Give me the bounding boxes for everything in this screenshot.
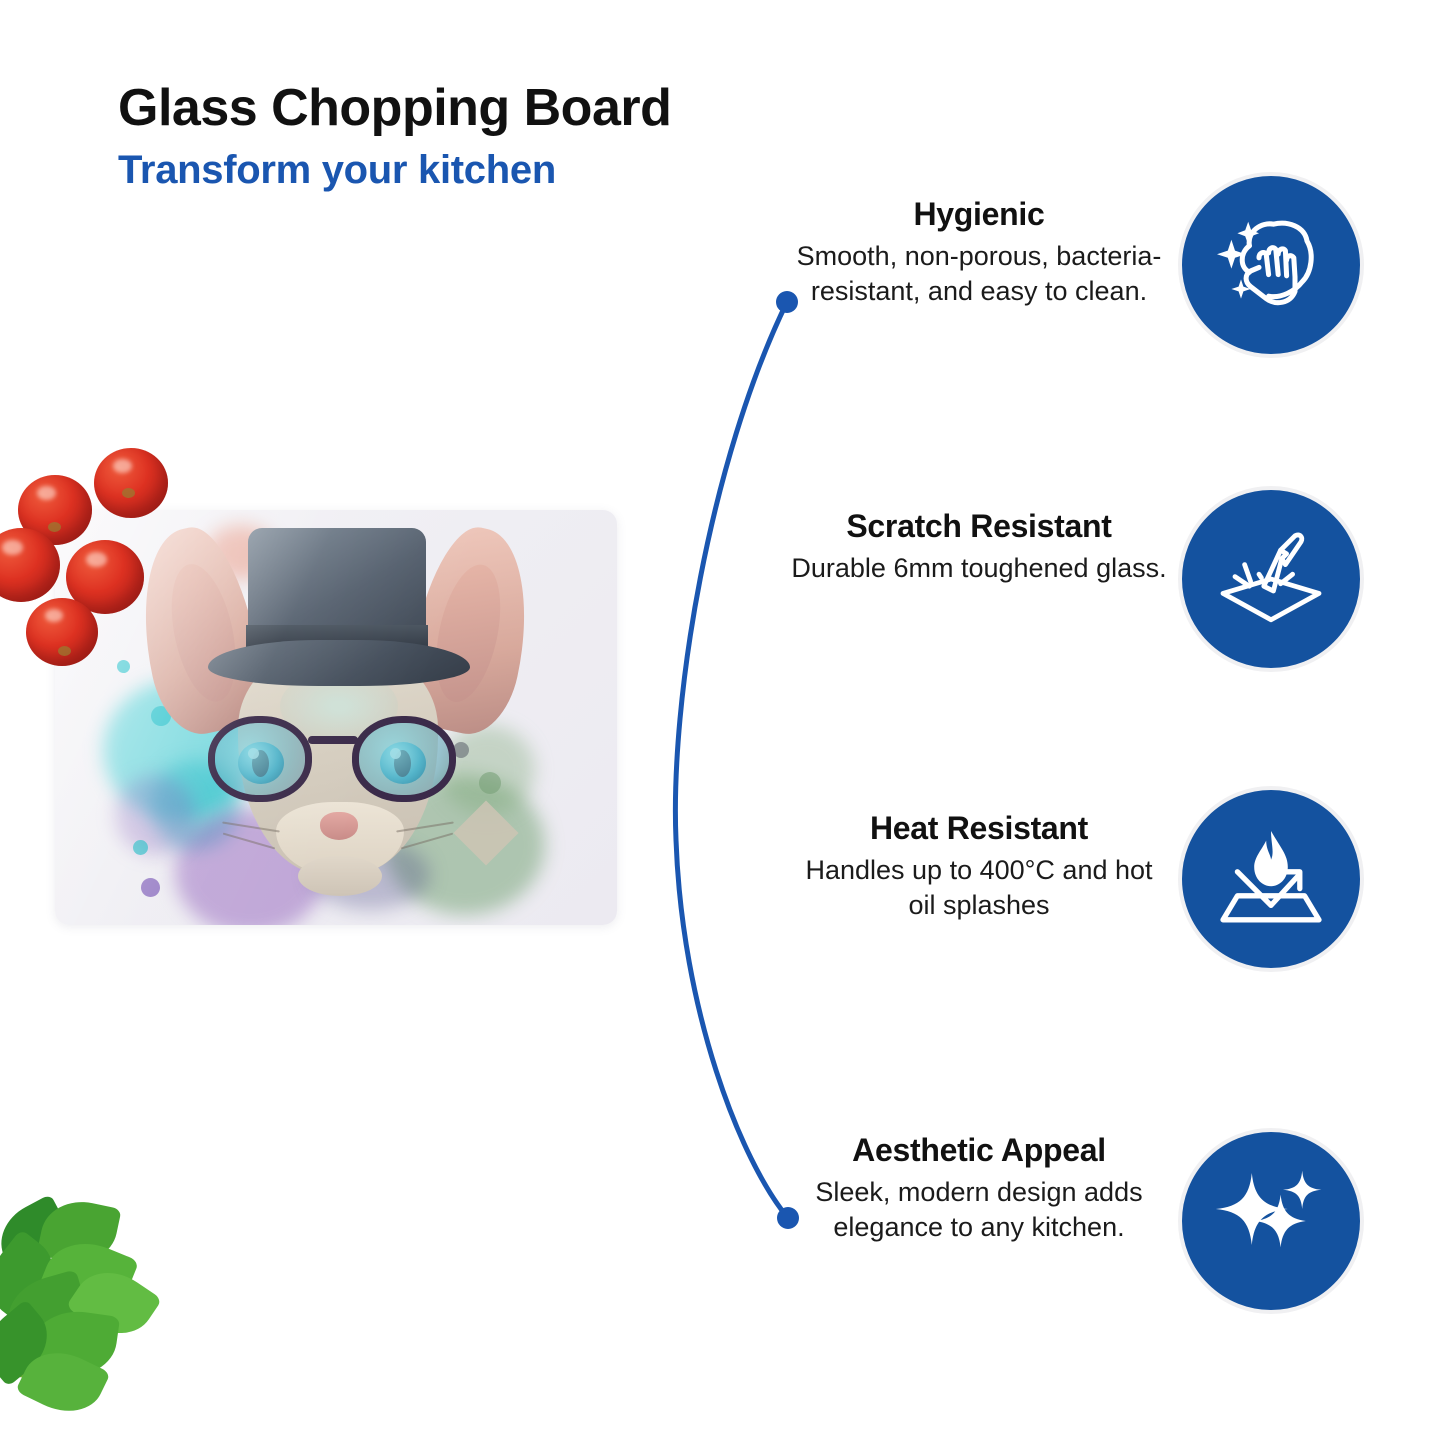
tomato-stem [58,646,71,656]
glasses-left-lens [208,716,312,802]
wiping-hand-sparkle-icon [1211,205,1331,325]
paint-speck [117,660,130,673]
ear-inner [161,558,247,707]
connector-path [675,302,788,1218]
feature-heat-resistant: Heat Resistant Handles up to 400°C and h… [790,810,1390,923]
cat-chin [298,856,382,896]
fresh-parsley [0,1195,178,1410]
feature-text-block: Heat Resistant Handles up to 400°C and h… [790,810,1168,923]
tomato-stem [48,522,61,532]
feature-title: Heat Resistant [790,810,1168,847]
feature-icon-badge [1178,1128,1364,1314]
glasses-right-lens [352,716,456,802]
page-title: Glass Chopping Board [118,80,878,136]
cherry-tomato [94,448,168,518]
feature-description: Durable 6mm toughened glass. [790,551,1168,586]
feature-text-block: Hygienic Smooth, non-porous, bacteria-re… [790,196,1168,309]
feature-text-block: Scratch Resistant Durable 6mm toughened … [790,508,1168,586]
tomato-stem [122,488,135,498]
knife-impact-surface-icon [1211,519,1331,639]
feature-icon-badge [1178,786,1364,972]
flame-deflect-arrow-icon [1211,819,1331,939]
feature-text-block: Aesthetic Appeal Sleek, modern design ad… [790,1132,1168,1245]
cat-artwork [130,520,540,910]
feature-description: Sleek, modern design adds elegance to an… [790,1175,1168,1245]
feature-scratch-resistant: Scratch Resistant Durable 6mm toughened … [790,508,1390,586]
feature-description: Handles up to 400°C and hot oil splashes [790,853,1168,923]
top-hat-brim [208,640,470,686]
feature-description: Smooth, non-porous, bacteria-resistant, … [790,239,1168,309]
three-sparkles-icon [1211,1161,1331,1281]
glasses-bridge [308,736,358,744]
connector-curve [640,280,820,1240]
feature-icon-badge [1178,486,1364,672]
page-subtitle: Transform your kitchen [118,148,878,193]
feature-title: Hygienic [790,196,1168,233]
feature-title: Scratch Resistant [790,508,1168,545]
feature-aesthetic-appeal: Aesthetic Appeal Sleek, modern design ad… [790,1132,1390,1245]
ear-inner [425,559,511,708]
feature-hygienic: Hygienic Smooth, non-porous, bacteria-re… [790,196,1390,309]
header: Glass Chopping Board Transform your kitc… [118,80,878,193]
product-image-area [0,430,660,990]
cat-nose [320,812,358,840]
feature-icon-badge [1178,172,1364,358]
feature-title: Aesthetic Appeal [790,1132,1168,1169]
